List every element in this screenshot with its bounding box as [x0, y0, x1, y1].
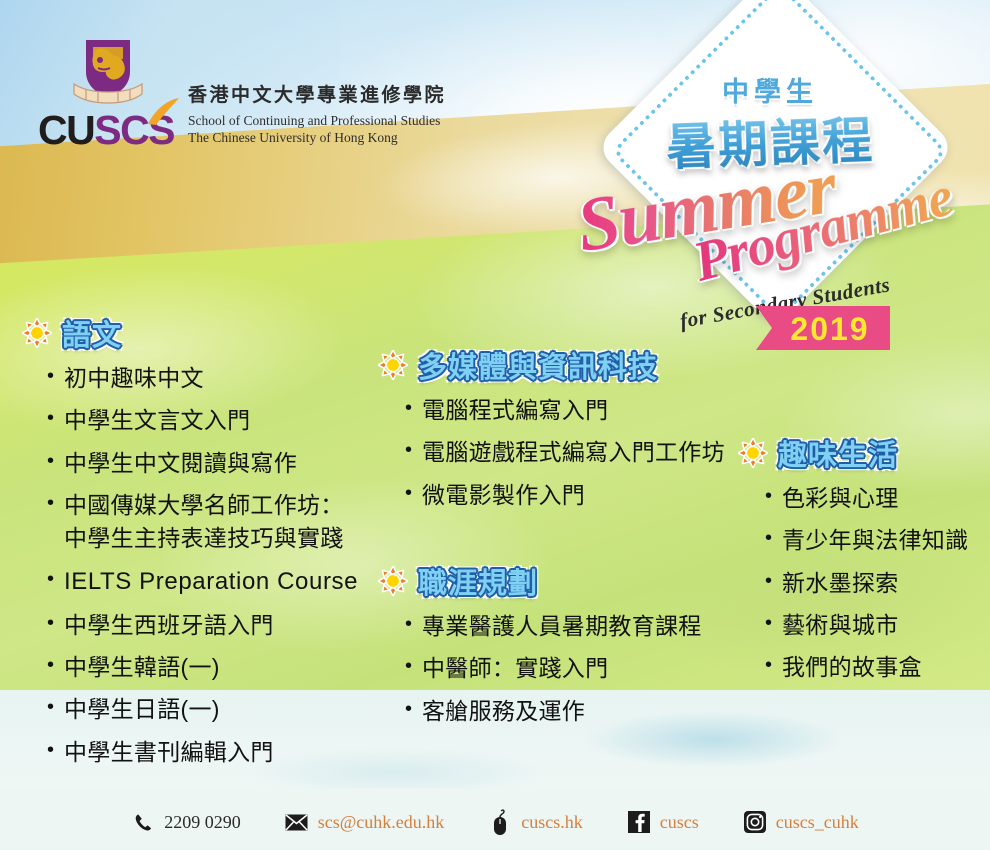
section-header-career-planning: 職涯規劃 [378, 560, 738, 602]
list-item[interactable]: 中學生書刊編輯入門 [64, 736, 392, 769]
school-name-cn: 香港中文大學專業進修學院 [188, 84, 488, 108]
cuhk-shield-icon [66, 38, 150, 110]
list-item[interactable]: 電腦程式編寫入門 [422, 394, 738, 427]
envelope-icon [285, 810, 309, 834]
section-languages: 語文 初中趣味中文 中學生文言文入門 中學生中文閱讀與寫作 中國傳媒大學名師工作… [22, 312, 392, 769]
list-item[interactable]: 我們的故事盒 [782, 651, 988, 684]
section-title-fun-living: 趣味生活 [778, 432, 898, 474]
contact-instagram-label: cuscs_cuhk [776, 812, 859, 833]
column-multimedia-career: 多媒體與資訊科技 電腦程式編寫入門 電腦遊戲程式編寫入門工作坊 微電影製作入門 [378, 344, 738, 740]
section-title-languages: 語文 [62, 312, 122, 354]
list-item[interactable]: 色彩與心理 [782, 482, 988, 515]
sun-icon [378, 566, 408, 596]
list-item[interactable]: 中學生韓語(一) [64, 651, 392, 684]
section-career-planning: 職涯規劃 專業醫護人員暑期教育課程 中醫師：實踐入門 客艙服務及運作 [378, 560, 738, 728]
section-header-multimedia-it: 多媒體與資訊科技 [378, 344, 738, 386]
poster-header: CUSCS 香港中文大學專業進修學院 School of Continuing … [0, 0, 500, 170]
section-title-career-planning: 職涯規劃 [418, 560, 538, 602]
swoosh-icon [146, 98, 180, 126]
contact-facebook-label: cuscs [660, 812, 699, 833]
contact-phone-label: 2209 0290 [164, 812, 241, 833]
list-item[interactable]: 中學生文言文入門 [64, 404, 392, 437]
contact-instagram[interactable]: cuscs_cuhk [743, 810, 859, 834]
contact-website-label: cuscs.hk [521, 812, 583, 833]
school-name-block: 香港中文大學專業進修學院 School of Continuing and Pr… [188, 84, 488, 146]
list-item[interactable]: 初中趣味中文 [64, 362, 392, 395]
section-multimedia-it: 多媒體與資訊科技 電腦程式編寫入門 電腦遊戲程式編寫入門工作坊 微電影製作入門 [378, 344, 738, 512]
list-item[interactable]: 青少年與法律知識 [782, 524, 988, 557]
course-list-languages: 初中趣味中文 中學生文言文入門 中學生中文閱讀與寫作 中國傳媒大學名師工作坊： … [22, 362, 392, 769]
contact-phone[interactable]: 2209 0290 [131, 810, 241, 834]
mouse-icon [488, 810, 512, 834]
contact-facebook[interactable]: cuscs [627, 810, 699, 834]
column-languages: 語文 初中趣味中文 中學生文言文入門 中學生中文閱讀與寫作 中國傳媒大學名師工作… [22, 312, 392, 781]
list-item[interactable]: 微電影製作入門 [422, 479, 738, 512]
cuscs-logo[interactable]: CUSCS [38, 38, 178, 153]
section-header-languages: 語文 [22, 312, 392, 354]
contact-footer: 2209 0290 scs@cuhk.edu.hk cuscs.hk [0, 800, 990, 844]
list-item[interactable]: 中國傳媒大學名師工作坊： 中學生主持表達技巧與實踐 [64, 489, 392, 556]
instagram-icon [743, 810, 767, 834]
list-item[interactable]: 中學生中文閱讀與寫作 [64, 447, 392, 480]
list-item[interactable]: 中醫師：實踐入門 [422, 652, 738, 685]
wordmark-cu: CU [38, 107, 94, 153]
course-list-fun-living: 色彩與心理 青少年與法律知識 新水墨探索 藝術與城市 我們的故事盒 [738, 482, 988, 685]
sun-icon [22, 318, 52, 348]
poster-canvas: CUSCS 香港中文大學專業進修學院 School of Continuing … [0, 0, 990, 850]
course-list-career-planning: 專業醫護人員暑期教育課程 中醫師：實踐入門 客艙服務及運作 [378, 610, 738, 728]
contact-website[interactable]: cuscs.hk [488, 810, 583, 834]
year-ribbon: 2019 [756, 306, 890, 352]
phone-icon [131, 810, 155, 834]
list-item[interactable]: 中學生西班牙語入門 [64, 609, 392, 642]
summer-programme-badge: 中學生 暑期課程 Summer Programme for Secondary … [570, 8, 970, 388]
list-item[interactable]: 專業醫護人員暑期教育課程 [422, 610, 738, 643]
section-header-fun-living: 趣味生活 [738, 432, 988, 474]
list-item[interactable]: 客艙服務及運作 [422, 695, 738, 728]
badge-dotted-border [611, 0, 949, 320]
section-fun-living: 趣味生活 色彩與心理 青少年與法律知識 新水墨探索 藝術與城市 我們的故事盒 [738, 432, 988, 685]
list-item[interactable]: 新水墨探索 [782, 567, 988, 600]
contact-email[interactable]: scs@cuhk.edu.hk [285, 810, 445, 834]
school-name-en1: School of Continuing and Professional St… [188, 112, 488, 129]
list-item[interactable]: 中學生日語(一) [64, 693, 392, 726]
sun-icon [738, 438, 768, 468]
contact-email-label: scs@cuhk.edu.hk [318, 812, 445, 833]
facebook-icon [627, 810, 651, 834]
list-item[interactable]: 電腦遊戲程式編寫入門工作坊 [422, 436, 738, 469]
sun-icon [378, 350, 408, 380]
school-name-en2: The Chinese University of Hong Kong [188, 129, 488, 146]
column-fun-living: 趣味生活 色彩與心理 青少年與法律知識 新水墨探索 藝術與城市 我們的故事盒 [738, 432, 988, 697]
list-item[interactable]: 藝術與城市 [782, 609, 988, 642]
section-title-multimedia-it: 多媒體與資訊科技 [418, 344, 658, 386]
list-item[interactable]: IELTS Preparation Course [64, 565, 392, 600]
year-label: 2019 [756, 306, 890, 350]
course-list-multimedia-it: 電腦程式編寫入門 電腦遊戲程式編寫入門工作坊 微電影製作入門 [378, 394, 738, 512]
